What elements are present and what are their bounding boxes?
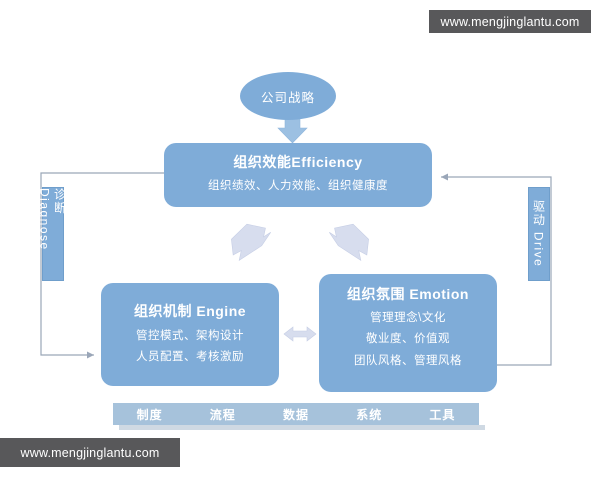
box-emotion-line-2: 敬业度、价值观	[366, 329, 450, 350]
enabler-bar-shadow	[119, 425, 485, 430]
enabler-bar: 制度 流程 数据 系统 工具	[113, 403, 479, 425]
box-emotion-line-3: 团队风格、管理风格	[354, 351, 462, 372]
box-efficiency[interactable]: 组织效能Efficiency 组织绩效、人力效能、组织健康度	[164, 143, 432, 207]
box-engine-line-2: 人员配置、考核激励	[136, 347, 244, 368]
box-emotion[interactable]: 组织氛围 Emotion 管理理念\文化 敬业度、价值观 团队风格、管理风格	[319, 274, 497, 392]
strategy-label: 公司战略	[261, 87, 315, 106]
box-emotion-title: 组织氛围 Emotion	[347, 284, 469, 304]
label-drive-text: 驱动 Drive	[531, 200, 548, 267]
box-emotion-line-1: 管理理念\文化	[370, 308, 446, 329]
emotion-to-efficiency-arrow	[329, 222, 373, 266]
watermark-bottom-text: www.mengjinglantu.com	[21, 446, 160, 460]
engine-emotion-arrow	[284, 327, 316, 341]
engine-to-efficiency-arrow	[227, 222, 271, 266]
label-diagnose-text: 诊断 Diagnose	[38, 188, 69, 280]
box-engine[interactable]: 组织机制 Engine 管控模式、架构设计 人员配置、考核激励	[101, 283, 279, 386]
strategy-to-efficiency-arrow	[278, 117, 307, 143]
label-diagnose[interactable]: 诊断 Diagnose	[42, 187, 64, 281]
enabler-item-5[interactable]: 工具	[406, 406, 479, 423]
box-efficiency-line-1: 组织绩效、人力效能、组织健康度	[208, 176, 388, 197]
watermark-top-text: www.mengjinglantu.com	[441, 15, 580, 29]
box-engine-line-1: 管控模式、架构设计	[136, 326, 244, 347]
enabler-item-1[interactable]: 制度	[113, 406, 186, 423]
box-efficiency-title: 组织效能Efficiency	[233, 152, 362, 172]
enabler-item-2[interactable]: 流程	[186, 406, 259, 423]
box-engine-title: 组织机制 Engine	[134, 301, 246, 321]
watermark-bottom: www.mengjinglantu.com	[0, 438, 180, 467]
label-drive[interactable]: 驱动 Drive	[528, 187, 550, 281]
enabler-item-4[interactable]: 系统	[333, 406, 406, 423]
strategy-node[interactable]: 公司战略	[240, 72, 336, 120]
diagram-canvas: 公司战略 组织效能Efficiency 组织绩效、人力效能、组织健康度 组织机制…	[0, 0, 600, 480]
watermark-top: www.mengjinglantu.com	[427, 8, 593, 35]
enabler-item-3[interactable]: 数据	[259, 406, 332, 423]
